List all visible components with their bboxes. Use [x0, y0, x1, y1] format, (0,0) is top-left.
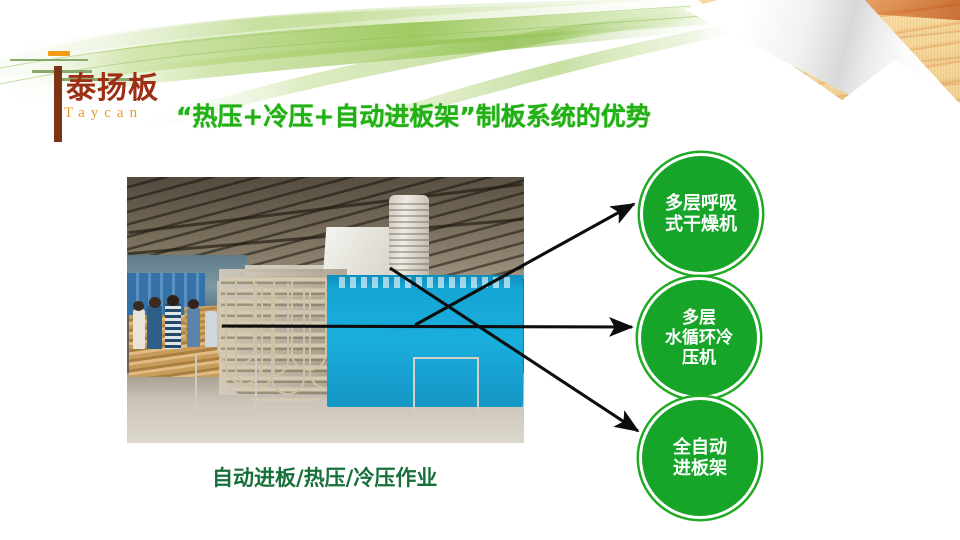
callout-label-line: 多层	[665, 308, 733, 328]
callout-label-line: 压机	[665, 348, 733, 368]
logo-vertical-bar	[54, 66, 62, 142]
callout-label: 多层呼吸式干燥机	[656, 193, 746, 235]
logo-name-en: Taycan	[64, 106, 143, 121]
callout-label-line: 进板架	[673, 458, 727, 479]
callout-label-line: 式干燥机	[665, 214, 737, 235]
callout-feeder[interactable]: 全自动进板架	[642, 400, 758, 516]
callout-coldpress[interactable]: 多层水循环冷压机	[641, 280, 757, 396]
logo-name-cn: 泰扬板	[66, 74, 159, 104]
logo-line-top	[10, 59, 88, 61]
callout-label: 全自动进板架	[664, 437, 736, 479]
callout-dryer[interactable]: 多层呼吸式干燥机	[643, 156, 759, 272]
photo-press-banner-text	[339, 277, 511, 288]
factory-photo	[127, 177, 524, 443]
page-title: “热压+冷压+自动进板架”制板系统的优势	[176, 103, 651, 131]
callout-label-line: 全自动	[673, 437, 727, 458]
callout-label-line: 多层呼吸	[665, 193, 737, 214]
logo-orange-accent	[48, 51, 70, 56]
photo-guard-rail-left	[195, 355, 257, 409]
callout-label: 多层水循环冷压机	[656, 308, 742, 368]
callout-label-line: 水循环冷	[665, 328, 733, 348]
photo-caption: 自动进板/热压/冷压作业	[212, 462, 437, 492]
company-logo: 泰扬板 Taycan	[8, 52, 170, 142]
slide-canvas: 泰扬板 Taycan “热压+冷压+自动进板架”制板系统的优势	[0, 0, 960, 540]
photo-guard-rail-right	[413, 357, 479, 413]
photo-workers	[131, 295, 227, 361]
